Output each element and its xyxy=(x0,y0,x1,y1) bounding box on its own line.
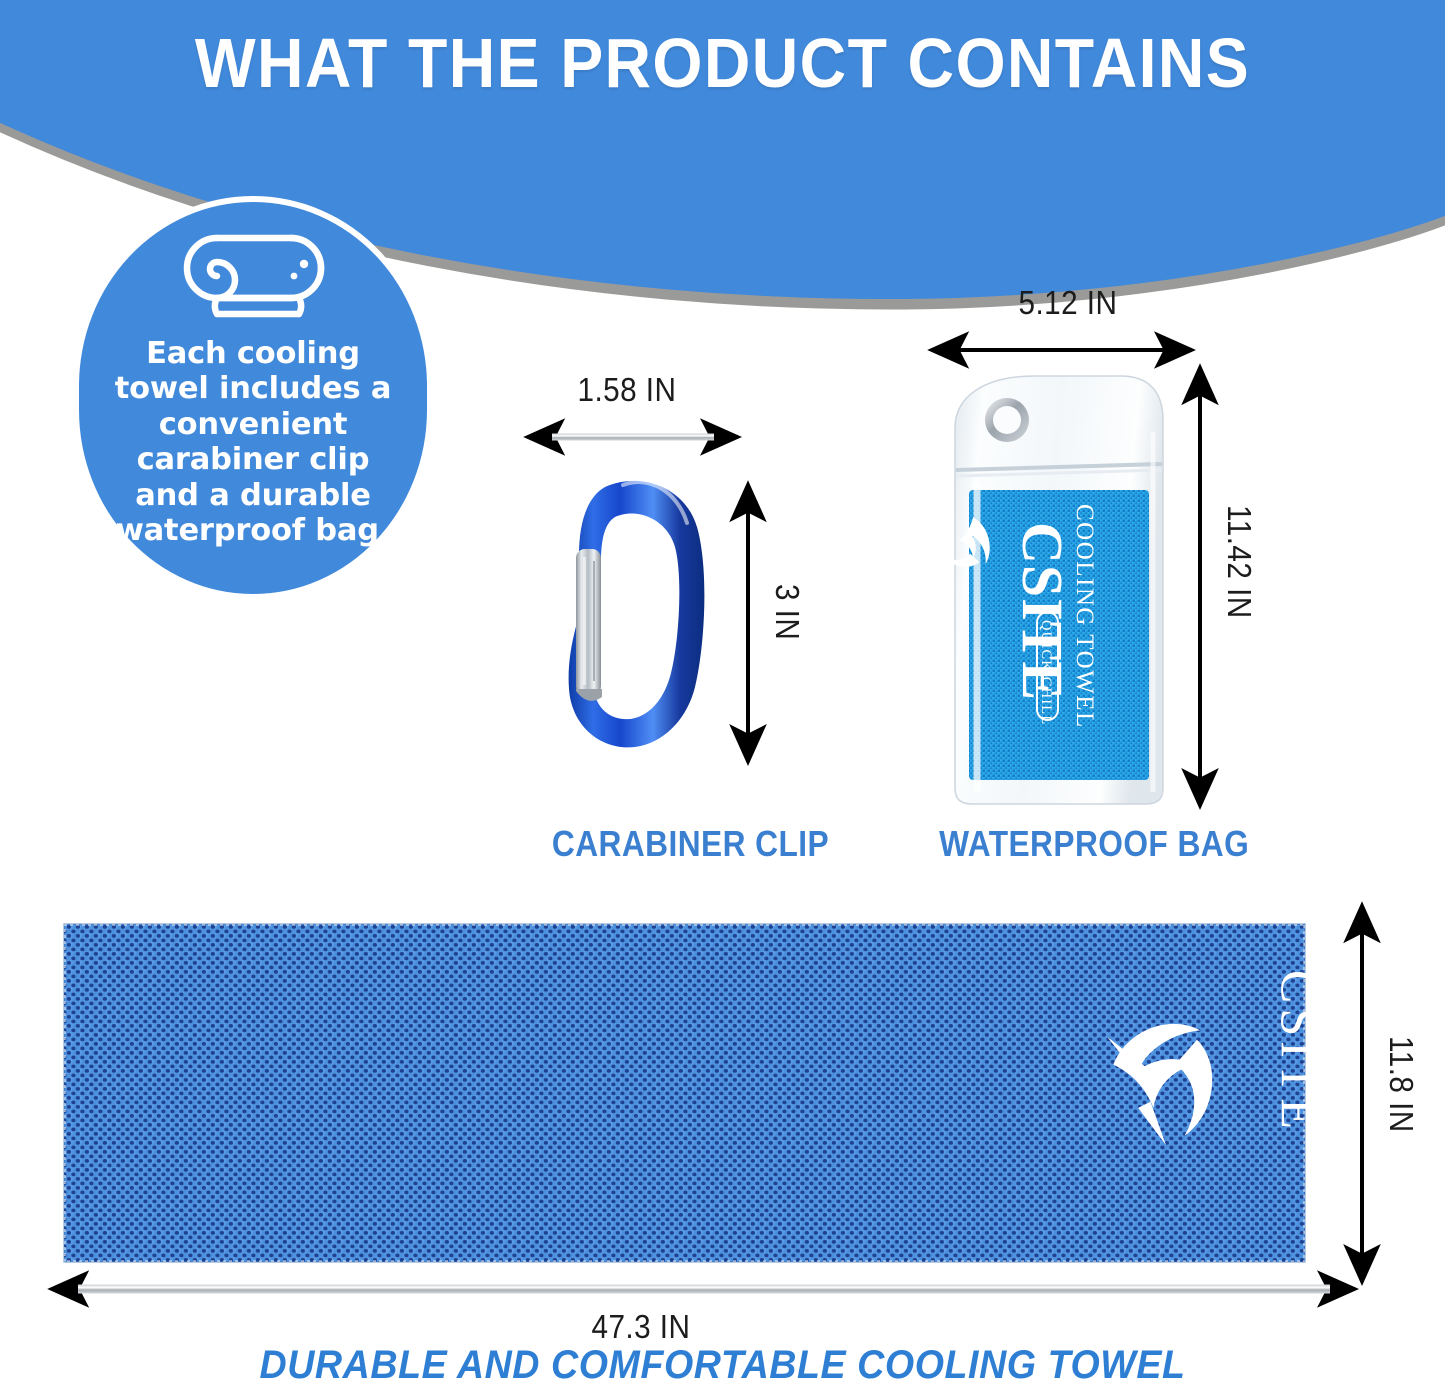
towel-width-dim: 47.3 IN xyxy=(591,1308,690,1346)
waterproof-bag-label: WATERPROOF BAG xyxy=(939,823,1249,865)
carabiner-height-dim: 3 IN xyxy=(768,584,806,640)
carabiner-width-dim: 1.58 IN xyxy=(577,371,676,409)
carabiner-clip-label: CARABINER CLIP xyxy=(552,823,829,865)
towel-dot-1 xyxy=(300,260,308,268)
towel-width-bar xyxy=(78,1285,1330,1294)
bag-brand-group: CSITE xyxy=(1010,522,1075,701)
page-title: WHAT THE PRODUCT CONTAINS xyxy=(58,28,1387,98)
towel-dot-2 xyxy=(291,273,298,280)
gate-highlight xyxy=(583,557,586,685)
bag-width-dim: 5.12 IN xyxy=(1018,284,1117,322)
rolled-towel-icon xyxy=(173,224,333,328)
main-towel-fabric xyxy=(64,924,1305,1262)
footer-caption: DURABLE AND COMFORTABLE COOLING TOWEL xyxy=(43,1343,1401,1388)
badge-description: Each cooling towel includes a convenient… xyxy=(103,336,403,548)
bag-height-dim: 11.42 IN xyxy=(1220,505,1258,619)
gate-shadow xyxy=(593,561,595,681)
bag-brand-text: CSITE xyxy=(1010,522,1075,701)
carabiner-clip-art xyxy=(545,465,735,765)
carabiner-gate xyxy=(576,549,601,695)
bag-grommet-hole xyxy=(993,406,1021,434)
main-towel-art: CSITE xyxy=(62,920,1307,1270)
carabiner-width-bar xyxy=(552,434,714,441)
main-towel-brand: CSITE xyxy=(1271,970,1307,1134)
info-badge: Each cooling towel includes a convenient… xyxy=(73,196,433,600)
towel-height-dim: 11.8 IN xyxy=(1382,1036,1420,1133)
infographic-page: WHAT THE PRODUCT CONTAINS Each cooling t… xyxy=(0,0,1445,1399)
waterproof-bag-art: COOLING TOWEL QUICK CHILL CSITE xyxy=(925,372,1195,808)
main-towel-brand-group: CSITE xyxy=(1271,970,1307,1134)
